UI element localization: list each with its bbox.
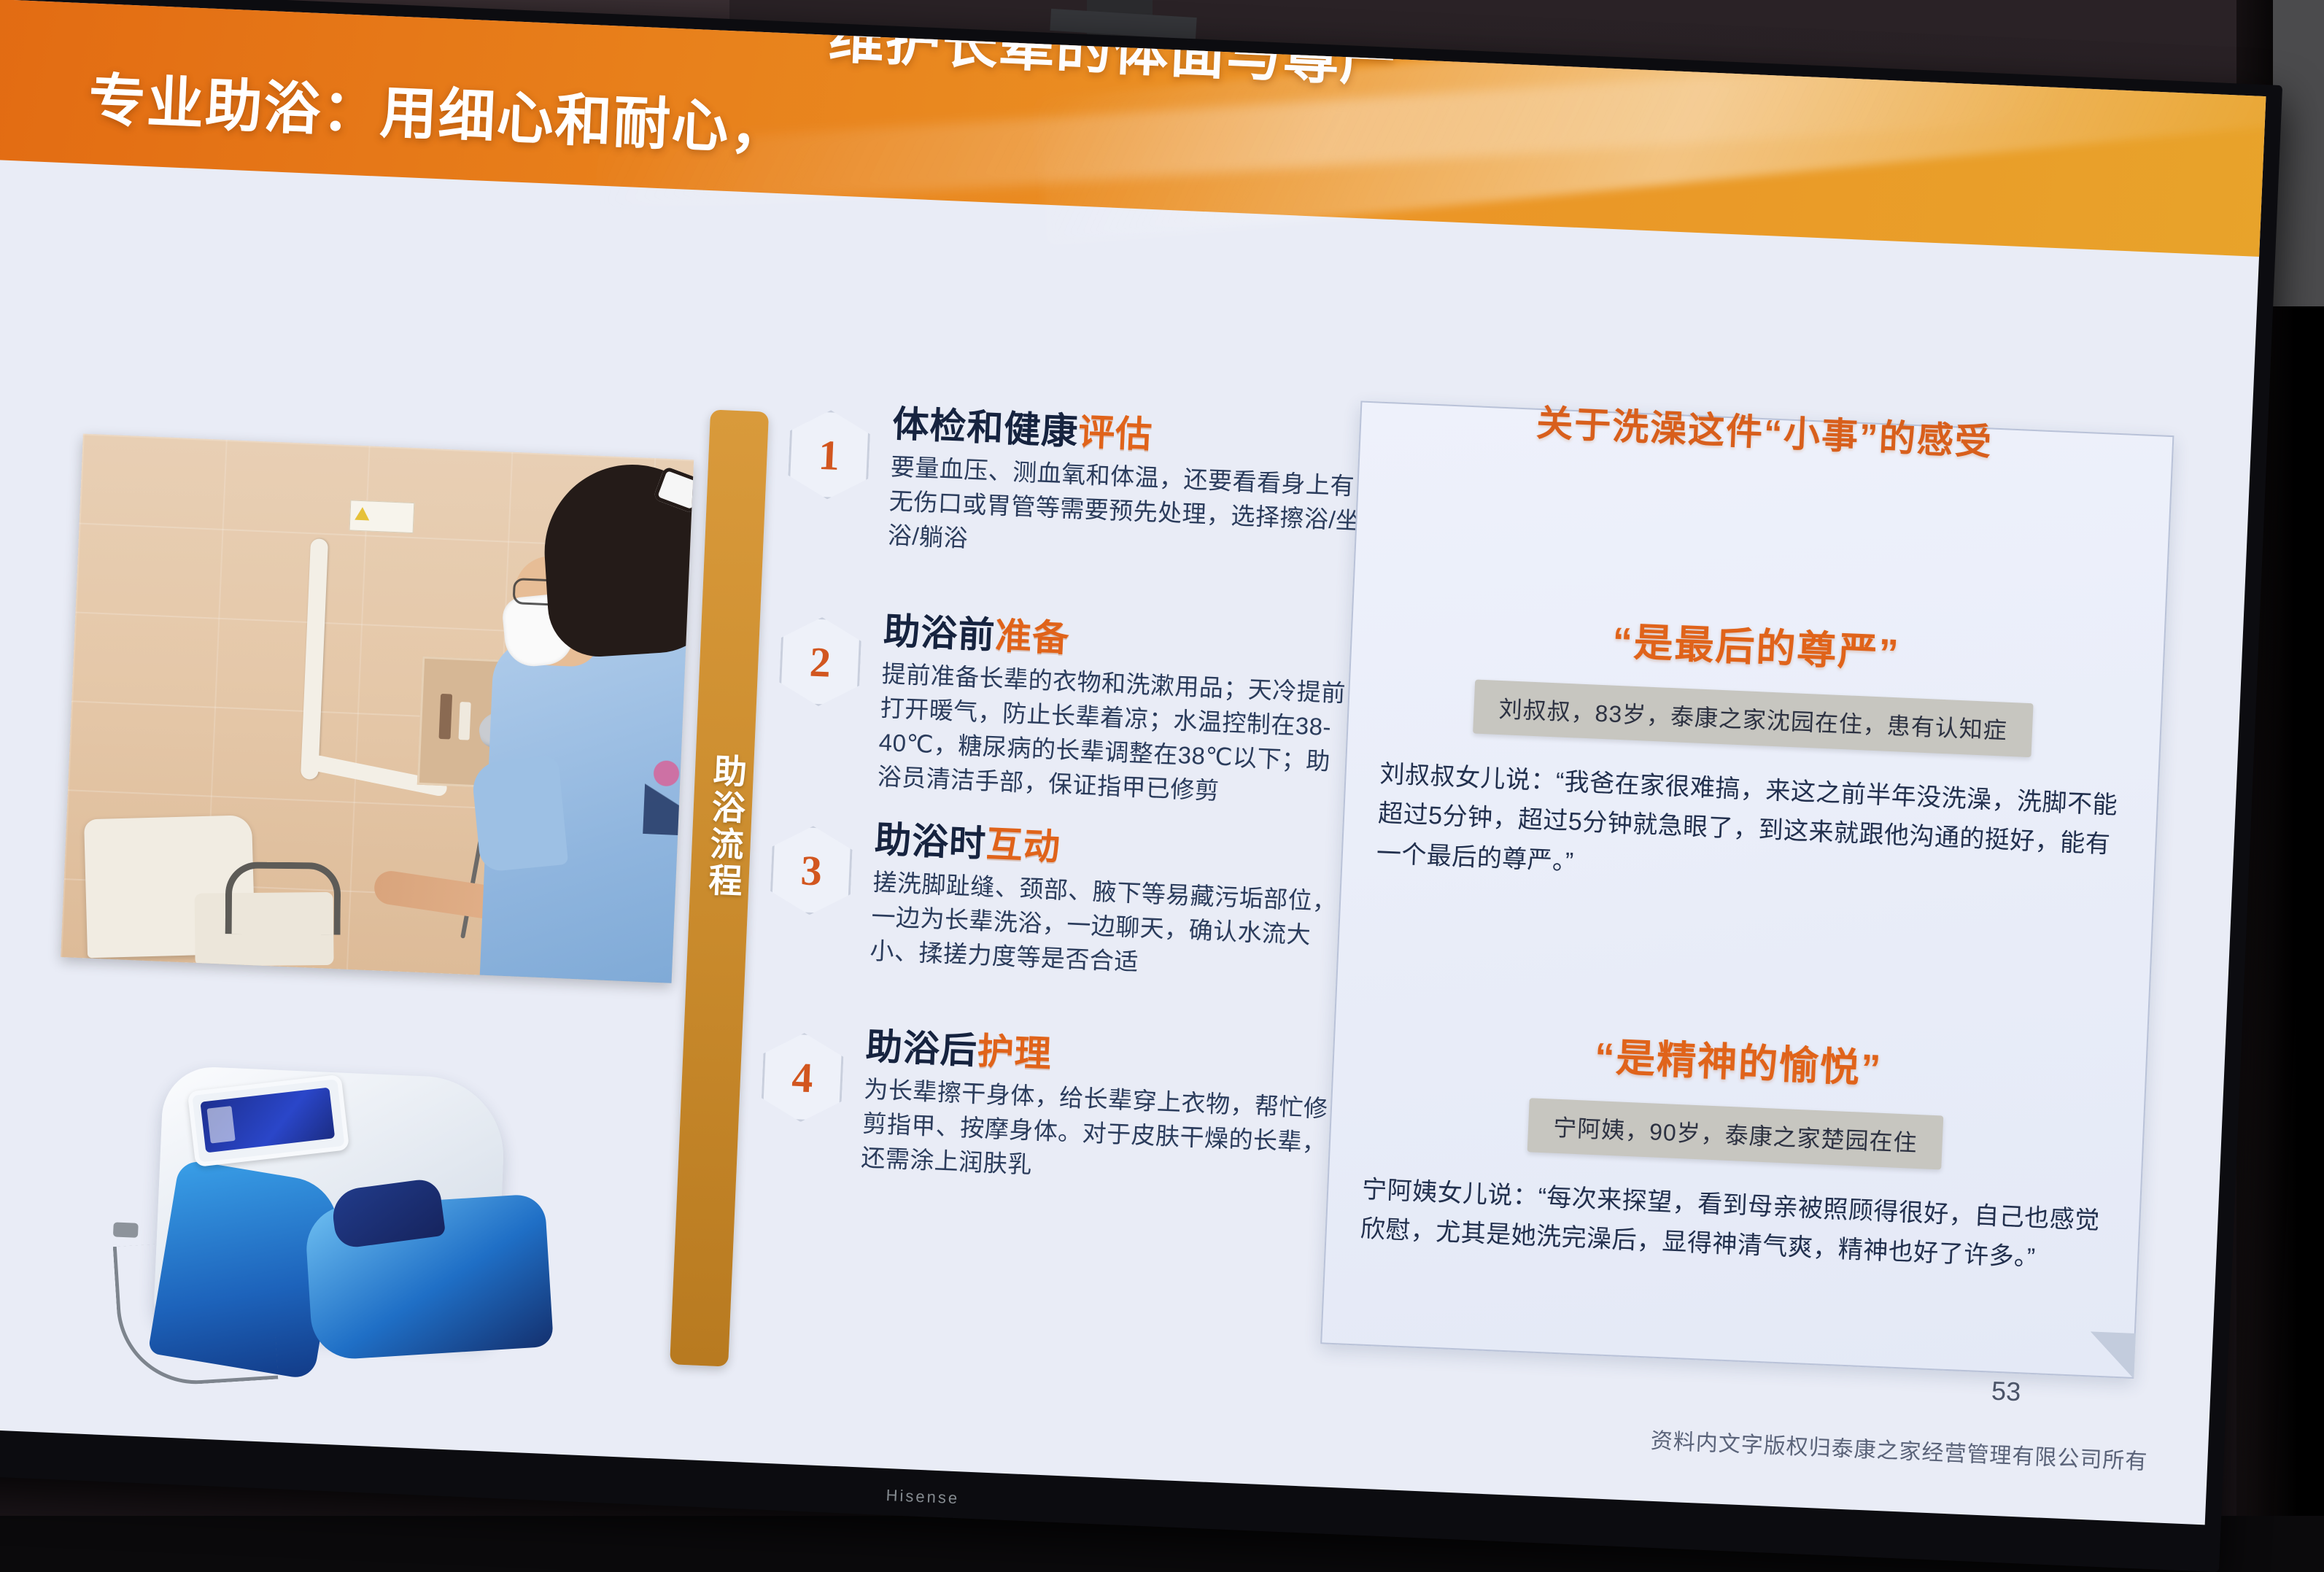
step-heading-accent: 准备 [994,615,1070,659]
shower-chair-handle [225,861,341,934]
step-body: 提前准备长辈的衣物和洗漱用品；天冷提前打开暖气，防止长辈着凉；水温控制在38-4… [877,657,1356,814]
testimonial-block: “是精神的愉悦” 宁阿姨，90岁，泰康之家楚园在住 宁阿姨女儿说：“每次来探望，… [1325,1013,2145,1282]
step-heading-accent: 护理 [977,1031,1053,1075]
step-heading-plain: 助浴时 [874,819,987,864]
display-screen: Hisense 维护长辈的体面与尊严 专业助浴：用细心和耐心， [0,0,2282,1572]
step-number: 1 [818,430,841,479]
display-brand-logo: Hisense [886,1486,960,1508]
flow-bar-label: 助浴流程 [698,752,746,899]
step-heading-plain: 体检和健康 [891,403,1079,452]
list-item: 3 助浴时互动 搓洗脚趾缝、颈部、腋下等易藏污垢部位，一边为长辈洗浴，一边聊天，… [759,814,1349,1021]
testimonial-block: “是最后的尊严” 刘叔叔，83岁，泰康之家沈园在住，患有认知症 刘叔叔女儿说：“… [1341,597,2163,906]
steps-list: 1 体检和健康评估 要量血压、测血氧和体温，还要看看身上有无伤口或胃管等需要预先… [748,398,1367,1253]
testimonial-attribution-chip: 宁阿姨，90岁，泰康之家楚园在住 [1527,1098,1943,1169]
bathing-chair-image [84,1018,654,1421]
caregiver-sleeve [470,755,568,872]
soap-bottle [458,702,470,740]
page-number: 53 [1991,1376,2021,1408]
right-wall-panel [2273,0,2324,306]
list-item: 2 助浴前准备 提前准备长辈的衣物和洗漱用品；天冷提前打开暖气，防止长辈着凉；水… [767,605,1358,813]
step-body: 搓洗脚趾缝、颈部、腋下等易藏污垢部位，一边为长辈洗浴，一边聊天，确认水流大小、揉… [869,866,1347,988]
list-item: 4 助浴后护理 为长辈擦干身体，给长辈穿上衣物，帮忙修剪指甲、按摩身体。对于皮肤… [750,1021,1341,1228]
step-number: 3 [799,845,823,895]
caregiver-photo [61,434,694,983]
step-body: 要量血压、测血氧和体温，还要看看身上有无伤口或胃管等需要预先处理，选择擦浴/坐浴… [887,450,1365,573]
warning-sign-icon [349,500,415,533]
power-plug-icon [113,1222,139,1237]
step-number-badge: 4 [761,1031,845,1124]
step-number: 4 [791,1053,814,1102]
presentation-slide: 维护长辈的体面与尊严 专业助浴：用细心和耐心， [0,0,2266,1525]
step-number-badge: 1 [787,409,871,501]
step-heading-plain: 助浴前 [883,611,996,656]
copyright-notice: 资料内文字版权归泰康之家经营管理有限公司所有 [1650,1422,2148,1476]
control-panel-keypad [206,1106,235,1144]
uniform-logo [643,746,694,836]
step-heading-accent: 互动 [985,824,1061,868]
shampoo-bottle [439,694,453,740]
step-number: 2 [809,637,832,686]
control-panel-screen [200,1088,335,1153]
step-number-badge: 2 [778,616,862,708]
step-number-badge: 3 [770,824,853,917]
list-item: 1 体检和健康评估 要量血压、测血氧和体温，还要看看身上有无伤口或胃管等需要预先… [776,398,1367,605]
step-body: 为长辈擦干身体，给长辈穿上衣物，帮忙修剪指甲、按摩身体。对于皮肤干燥的长辈，还需… [860,1073,1338,1196]
power-cord [113,1237,279,1389]
testimonial-attribution-chip: 刘叔叔，83岁，泰康之家沈园在住，患有认知症 [1473,680,2033,758]
step-heading-plain: 助浴后 [865,1026,978,1072]
step-heading-accent: 评估 [1077,411,1153,455]
